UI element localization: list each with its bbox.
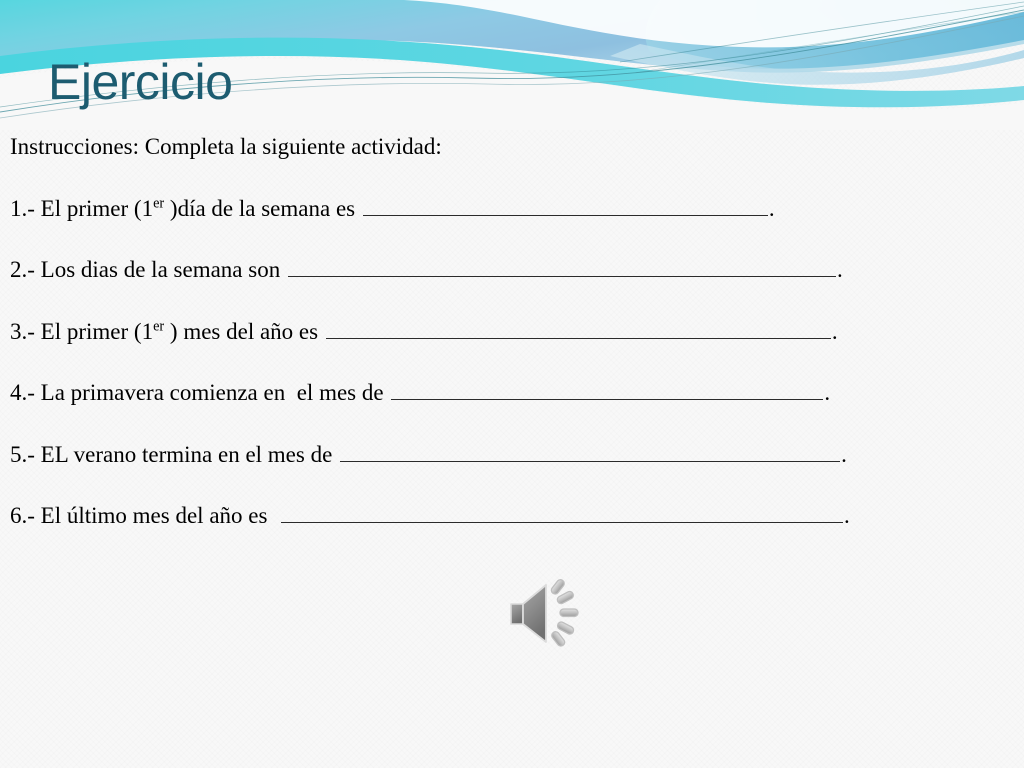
question-number: 4.-: [10, 380, 35, 405]
answer-blank[interactable]: [363, 194, 768, 216]
question-text-tail: )día de la semana es: [164, 196, 361, 221]
question-row: 5.- EL verano termina en el mes de .: [10, 440, 1014, 502]
question-period: .: [832, 319, 838, 344]
question-row: 6.- El último mes del año es .: [10, 501, 1014, 563]
answer-blank[interactable]: [288, 255, 836, 277]
question-superscript: er: [153, 195, 164, 211]
question-number: 1.-: [10, 196, 35, 221]
question-text: El primer (1: [35, 196, 153, 221]
question-period: .: [837, 257, 843, 282]
question-number: 3.-: [10, 319, 35, 344]
slide-body: Instrucciones: Completa la siguiente act…: [10, 132, 1014, 563]
question-row: 4.- La primavera comienza en el mes de .: [10, 378, 1014, 440]
question-text: Los dias de la semana son: [35, 257, 286, 282]
question-number: 2.-: [10, 257, 35, 282]
question-period: .: [844, 503, 850, 528]
answer-blank[interactable]: [326, 317, 831, 339]
answer-blank[interactable]: [281, 501, 843, 523]
question-text: EL verano termina en el mes de: [35, 442, 338, 467]
question-row: 1.- El primer (1er )día de la semana es …: [10, 194, 1014, 256]
question-superscript: er: [153, 318, 164, 334]
question-period: .: [824, 380, 830, 405]
page-title: Ejercicio: [48, 54, 232, 110]
question-row: 2.- Los dias de la semana son .: [10, 255, 1014, 317]
question-text: El primer (1: [35, 319, 153, 344]
question-number: 5.-: [10, 442, 35, 467]
question-text: La primavera comienza en el mes de: [35, 380, 389, 405]
instructions-line: Instrucciones: Completa la siguiente act…: [10, 132, 1014, 194]
answer-blank[interactable]: [391, 378, 823, 400]
question-period: .: [841, 442, 847, 467]
speaker-audio-icon[interactable]: [506, 578, 586, 648]
question-text: El último mes del año es: [35, 503, 279, 528]
answer-blank[interactable]: [340, 440, 840, 462]
audio-clip-placeholder[interactable]: [506, 578, 586, 648]
question-number: 6.-: [10, 503, 35, 528]
question-period: .: [769, 196, 775, 221]
question-row: 3.- El primer (1er ) mes del año es .: [10, 317, 1014, 379]
instructions-text: Instrucciones: Completa la siguiente act…: [10, 134, 442, 159]
presentation-slide: Ejercicio Instrucciones: Completa la sig…: [0, 0, 1024, 768]
question-text-tail: ) mes del año es: [164, 319, 324, 344]
